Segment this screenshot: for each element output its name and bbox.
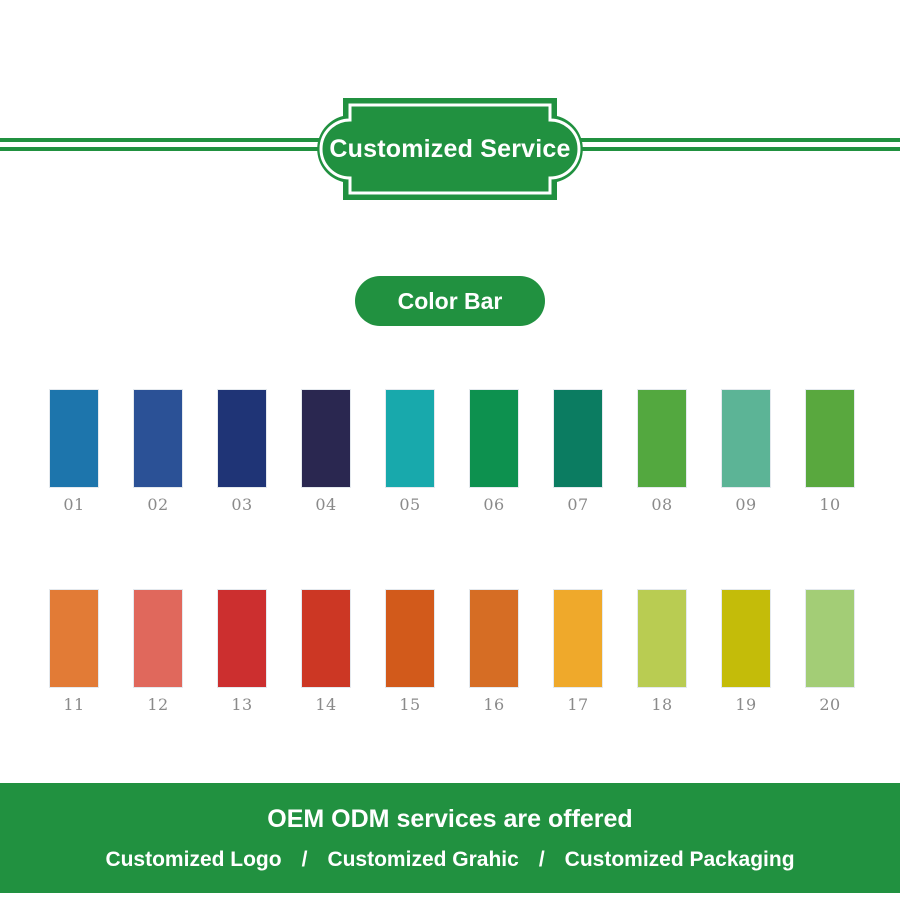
service-item-packaging: Customized Packaging bbox=[565, 849, 795, 870]
swatch-chip[interactable] bbox=[553, 389, 603, 488]
swatch-chip[interactable] bbox=[553, 589, 603, 688]
service-item-logo: Customized Logo bbox=[105, 849, 281, 870]
swatch-chip[interactable] bbox=[469, 589, 519, 688]
swatch-chip[interactable] bbox=[133, 589, 183, 688]
swatch-chip[interactable] bbox=[49, 389, 99, 488]
swatch-chip[interactable] bbox=[217, 389, 267, 488]
swatch-chip[interactable] bbox=[385, 389, 435, 488]
swatch-row-1: 01 02 03 04 05 06 07 08 09 10 bbox=[49, 389, 855, 513]
swatch-number: 11 bbox=[63, 697, 84, 713]
footer-banner: OEM ODM services are offered Customized … bbox=[0, 783, 900, 893]
swatch-chip[interactable] bbox=[805, 389, 855, 488]
swatch-chip[interactable] bbox=[301, 589, 351, 688]
swatch-cell[interactable]: 03 bbox=[217, 389, 267, 513]
swatch-number: 13 bbox=[231, 697, 252, 713]
service-separator: / bbox=[519, 849, 565, 870]
swatch-cell[interactable]: 04 bbox=[301, 389, 351, 513]
swatch-cell[interactable]: 02 bbox=[133, 389, 183, 513]
swatch-number: 20 bbox=[819, 697, 840, 713]
header-plaque: Customized Service bbox=[315, 94, 585, 204]
swatch-cell[interactable]: 07 bbox=[553, 389, 603, 513]
service-item-graphic: Customized Grahic bbox=[327, 849, 518, 870]
swatch-chip[interactable] bbox=[637, 389, 687, 488]
swatch-cell[interactable]: 18 bbox=[637, 589, 687, 713]
swatch-cell[interactable]: 09 bbox=[721, 389, 771, 513]
swatch-number: 01 bbox=[63, 497, 84, 513]
swatch-cell[interactable]: 10 bbox=[805, 389, 855, 513]
footer-services-list: Customized Logo / Customized Grahic / Cu… bbox=[105, 849, 794, 870]
swatch-chip[interactable] bbox=[721, 389, 771, 488]
swatch-cell[interactable]: 13 bbox=[217, 589, 267, 713]
swatch-number: 17 bbox=[567, 697, 588, 713]
swatch-cell[interactable]: 01 bbox=[49, 389, 99, 513]
swatch-chip[interactable] bbox=[217, 589, 267, 688]
swatch-number: 18 bbox=[651, 697, 672, 713]
swatch-row-2: 11 12 13 14 15 16 17 18 19 20 bbox=[49, 589, 855, 713]
header-ribbon: Customized Service bbox=[0, 94, 900, 204]
footer-headline: OEM ODM services are offered bbox=[267, 807, 632, 832]
service-separator: / bbox=[282, 849, 328, 870]
swatch-number: 05 bbox=[399, 497, 420, 513]
swatch-chip[interactable] bbox=[805, 589, 855, 688]
swatch-cell[interactable]: 06 bbox=[469, 389, 519, 513]
swatch-cell[interactable]: 12 bbox=[133, 589, 183, 713]
swatch-number: 15 bbox=[399, 697, 420, 713]
swatch-cell[interactable]: 05 bbox=[385, 389, 435, 513]
swatch-number: 12 bbox=[147, 697, 168, 713]
swatch-cell[interactable]: 20 bbox=[805, 589, 855, 713]
color-bar-label: Color Bar bbox=[398, 288, 503, 315]
swatch-chip[interactable] bbox=[301, 389, 351, 488]
swatch-chip[interactable] bbox=[133, 389, 183, 488]
swatch-cell[interactable]: 14 bbox=[301, 589, 351, 713]
swatch-number: 14 bbox=[315, 697, 336, 713]
color-bar-section-pill: Color Bar bbox=[355, 276, 545, 326]
swatch-chip[interactable] bbox=[721, 589, 771, 688]
swatch-number: 08 bbox=[651, 497, 672, 513]
swatch-chip[interactable] bbox=[385, 589, 435, 688]
swatch-cell[interactable]: 17 bbox=[553, 589, 603, 713]
swatch-cell[interactable]: 19 bbox=[721, 589, 771, 713]
swatch-cell[interactable]: 15 bbox=[385, 589, 435, 713]
swatch-number: 07 bbox=[567, 497, 588, 513]
swatch-chip[interactable] bbox=[49, 589, 99, 688]
swatch-number: 09 bbox=[735, 497, 756, 513]
swatch-number: 10 bbox=[819, 497, 840, 513]
plaque-shape-icon bbox=[315, 94, 585, 204]
swatch-number: 04 bbox=[315, 497, 336, 513]
swatch-number: 06 bbox=[483, 497, 504, 513]
swatch-cell[interactable]: 11 bbox=[49, 589, 99, 713]
swatch-cell[interactable]: 08 bbox=[637, 389, 687, 513]
swatch-number: 02 bbox=[147, 497, 168, 513]
swatch-chip[interactable] bbox=[637, 589, 687, 688]
swatch-number: 16 bbox=[483, 697, 504, 713]
swatch-cell[interactable]: 16 bbox=[469, 589, 519, 713]
swatch-chip[interactable] bbox=[469, 389, 519, 488]
swatch-number: 03 bbox=[231, 497, 252, 513]
swatch-number: 19 bbox=[735, 697, 756, 713]
